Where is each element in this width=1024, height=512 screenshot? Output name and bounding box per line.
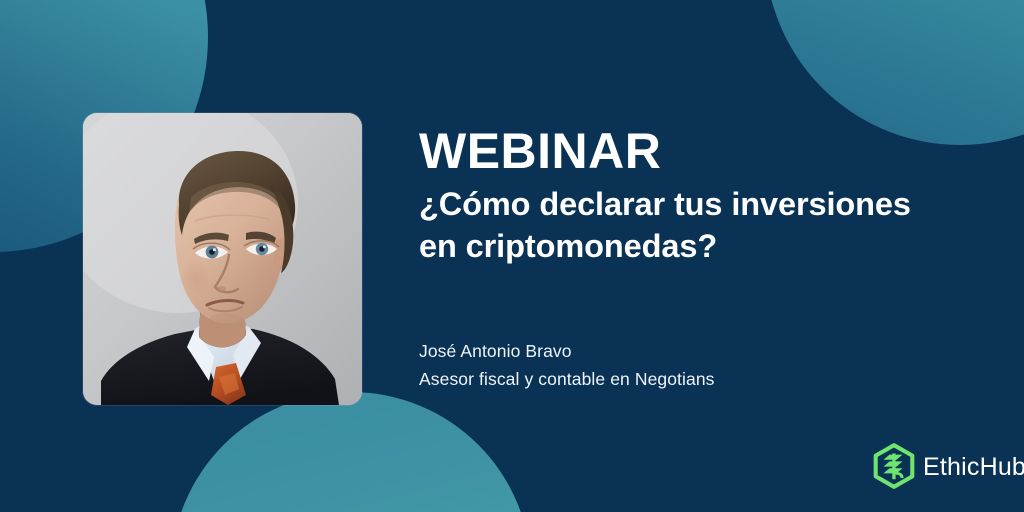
subtitle-line-1: ¿Cómo declarar tus inversiones: [419, 183, 1009, 225]
ethichub-hexagon-leaf-icon: [872, 443, 916, 489]
webinar-subtitle: ¿Cómo declarar tus inversiones en cripto…: [419, 183, 1009, 268]
speaker-credits: José Antonio Bravo Asesor fiscal y conta…: [419, 338, 979, 393]
webinar-banner: WEBINAR ¿Cómo declarar tus inversiones e…: [0, 0, 1024, 512]
decorative-circle-top-right: [765, 0, 1024, 145]
speaker-portrait-illustration: [83, 113, 362, 405]
headline-block: WEBINAR ¿Cómo declarar tus inversiones e…: [419, 126, 1009, 268]
ethichub-logo: EthicHub: [872, 443, 1024, 489]
speaker-role: Asesor fiscal y contable en Negotians: [419, 366, 979, 394]
subtitle-line-2: en criptomonedas?: [419, 225, 1009, 267]
speaker-name: José Antonio Bravo: [419, 338, 979, 366]
ethichub-wordmark: EthicHub: [923, 455, 1024, 480]
decorative-circle-bottom: [171, 392, 531, 512]
page-title: WEBINAR: [419, 126, 1009, 177]
speaker-photo: [83, 113, 362, 405]
